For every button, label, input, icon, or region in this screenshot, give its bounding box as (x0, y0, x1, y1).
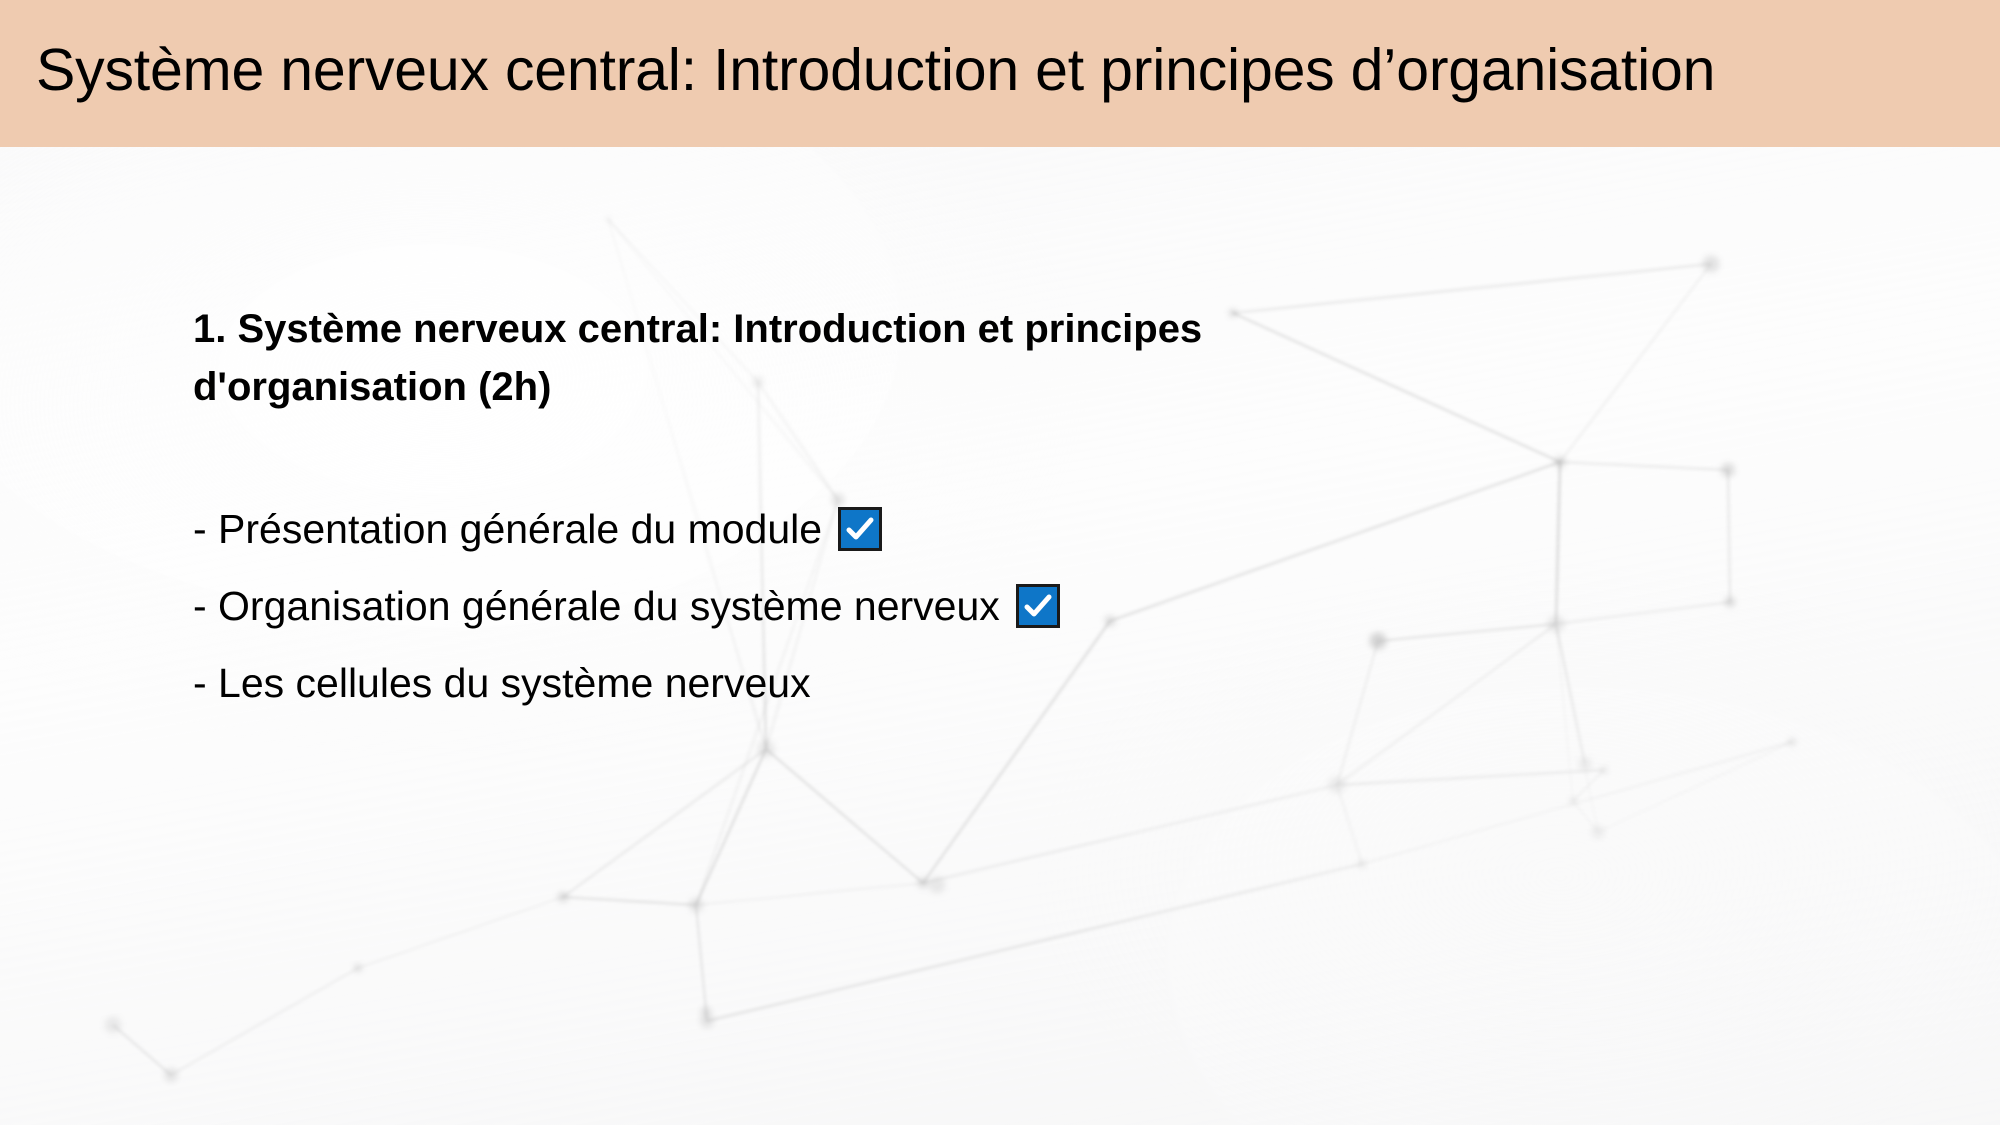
list-item-label: - Les cellules du système nerveux (193, 659, 811, 707)
list-item: - Présentation générale du module (193, 490, 1623, 567)
section-heading: 1. Système nerveux central: Introduction… (193, 300, 1483, 416)
list-item: - Les cellules du système nerveux (193, 644, 1623, 721)
content-body: 1. Système nerveux central: Introduction… (193, 300, 1623, 721)
list-item: - Organisation générale du système nerve… (193, 567, 1623, 644)
list-item-label: - Présentation générale du module (193, 505, 822, 553)
list-item-label: - Organisation générale du système nerve… (193, 582, 1000, 630)
checkbox-checked-icon[interactable] (838, 507, 882, 551)
title-bar: Système nerveux central: Introduction et… (0, 0, 2000, 147)
checkbox-checked-icon[interactable] (1016, 584, 1060, 628)
content-spacer (193, 416, 1623, 490)
slide-canvas: Système nerveux central: Introduction et… (0, 0, 2000, 1125)
page-title: Système nerveux central: Introduction et… (36, 34, 1976, 106)
